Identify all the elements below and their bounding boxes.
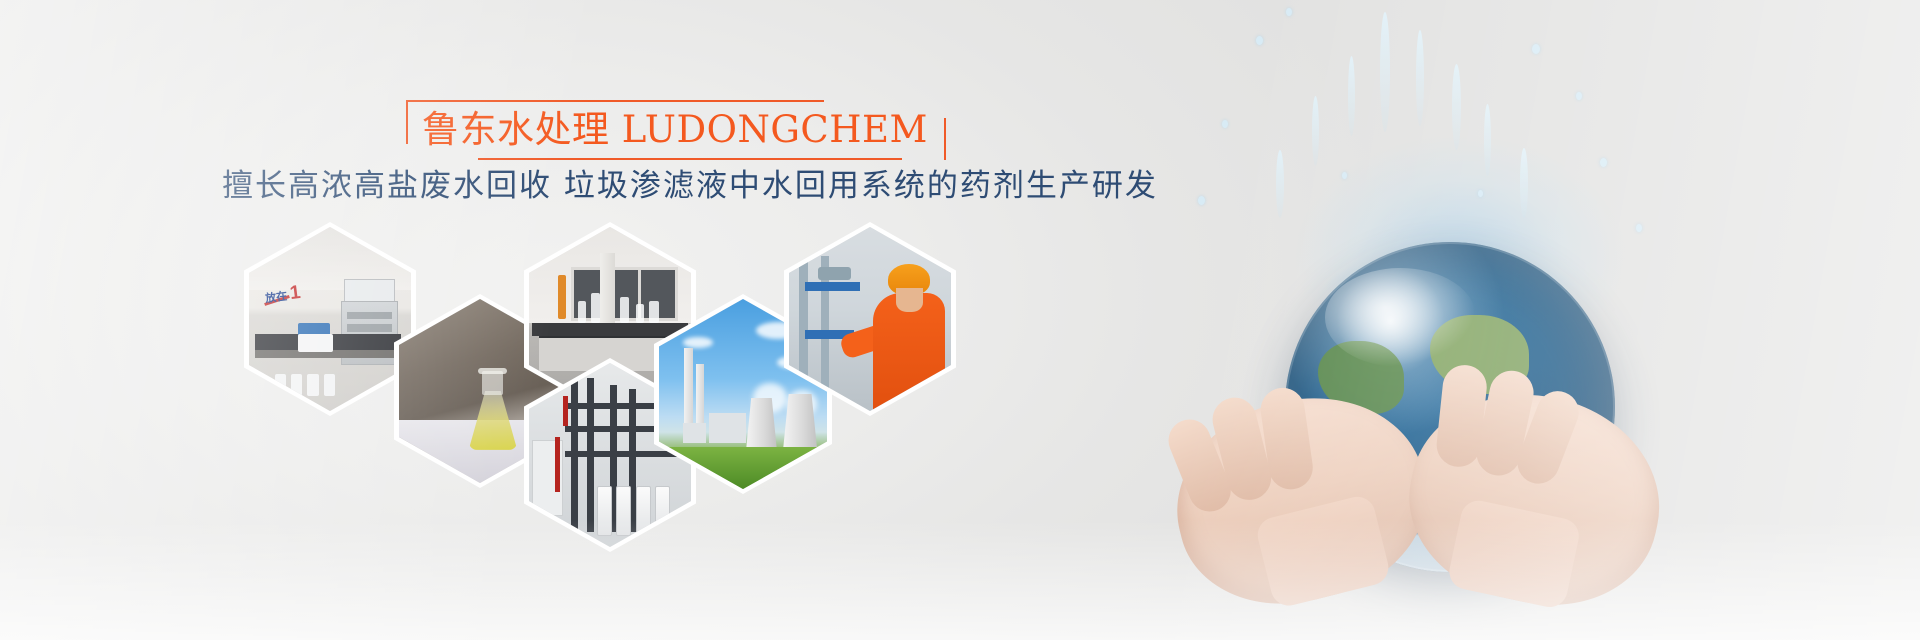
water-globe-artwork — [1080, 0, 1920, 640]
hexagon-photo-cluster: 放在 1 — [0, 0, 1060, 640]
hero-banner: 鲁东水处理 LUDONGCHEM 擅长高浓高盐废水回收 垃圾渗滤液中水回用系统的… — [0, 0, 1920, 640]
hex-photo-overlay-text: 放在 1 — [264, 282, 302, 308]
